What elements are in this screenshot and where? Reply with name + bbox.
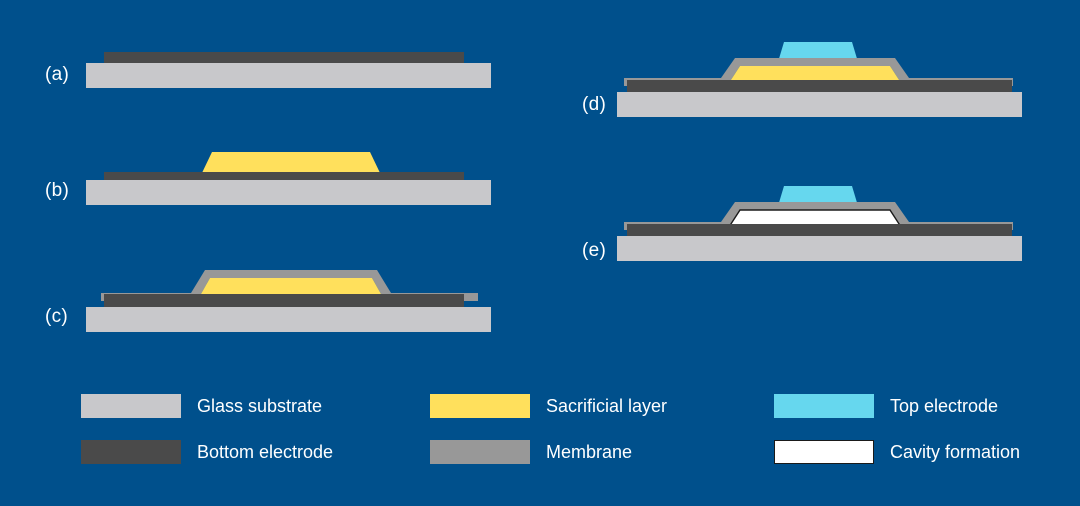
process-flow-drawing	[0, 0, 1080, 506]
panel-d-glass-substrate	[617, 92, 1022, 117]
panel-a-bottom-electrode	[104, 52, 464, 63]
legend-swatch-top-electrode	[774, 394, 874, 418]
panel-label-c: (c)	[45, 306, 68, 328]
legend-item-top-electrode: Top electrode	[774, 394, 998, 418]
legend-swatch-cavity-formation	[774, 440, 874, 464]
panel-label-b: (b)	[45, 180, 69, 202]
figure-canvas: (a) (b) (c) (d) (e)	[0, 0, 1080, 506]
panel-d-membrane	[624, 58, 1013, 86]
panel-d-bottom-electrode	[627, 80, 1012, 92]
legend-label-glass-substrate: Glass substrate	[197, 396, 322, 417]
panel-b-stack	[86, 152, 491, 205]
legend-item-cavity-formation: Cavity formation	[774, 440, 1020, 464]
panel-c-glass-substrate	[86, 307, 491, 332]
panel-d-stack	[617, 42, 1022, 117]
panel-e-cavity-formation	[727, 210, 903, 230]
panel-e-top-electrode	[778, 186, 858, 206]
panel-c-bottom-electrode	[104, 294, 464, 307]
panel-a-glass-substrate	[86, 63, 491, 88]
legend-item-bottom-electrode: Bottom electrode	[81, 440, 333, 464]
legend-item-membrane: Membrane	[430, 440, 632, 464]
legend-label-bottom-electrode: Bottom electrode	[197, 442, 333, 463]
panel-d-top-electrode	[778, 42, 858, 62]
panel-c-sacrificial-layer	[197, 278, 385, 301]
legend-swatch-glass-substrate	[81, 394, 181, 418]
legend-label-sacrificial-layer: Sacrificial layer	[546, 396, 667, 417]
panel-b-bottom-electrode	[104, 172, 464, 183]
panel-a-stack	[86, 52, 491, 88]
legend-item-glass-substrate: Glass substrate	[81, 394, 322, 418]
panel-c-stack	[86, 270, 491, 332]
panel-c-membrane	[101, 270, 478, 301]
panel-d-sacrificial-layer	[727, 66, 903, 86]
panel-label-a: (a)	[45, 64, 69, 86]
panel-b-sacrificial-layer	[201, 152, 381, 175]
legend-label-membrane: Membrane	[546, 442, 632, 463]
panel-e-bottom-electrode	[627, 224, 1012, 236]
legend-swatch-membrane	[430, 440, 530, 464]
legend-swatch-sacrificial-layer	[430, 394, 530, 418]
panel-label-d: (d)	[582, 94, 606, 116]
legend-label-top-electrode: Top electrode	[890, 396, 998, 417]
legend-swatch-bottom-electrode	[81, 440, 181, 464]
panel-label-e: (e)	[582, 240, 606, 262]
panel-e-stack	[617, 186, 1022, 261]
legend-label-cavity-formation: Cavity formation	[890, 442, 1020, 463]
panel-e-glass-substrate	[617, 236, 1022, 261]
panel-b-glass-substrate	[86, 180, 491, 205]
panel-e-membrane	[624, 202, 1013, 230]
legend-item-sacrificial-layer: Sacrificial layer	[430, 394, 667, 418]
